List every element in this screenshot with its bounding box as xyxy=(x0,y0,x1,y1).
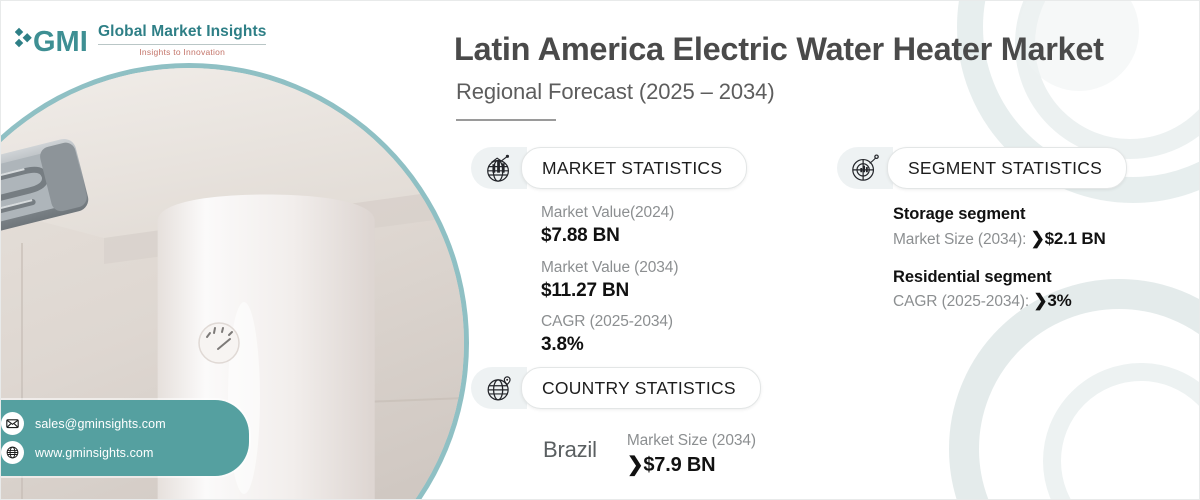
country-figure: Market Size (2034) ❯$7.9 BN xyxy=(627,427,756,478)
stat-value: 3.8% xyxy=(541,333,747,358)
segment-statistics-panel: SEGMENT STATISTICS Storage segment Marke… xyxy=(837,147,1127,328)
country-statistics-pill[interactable]: COUNTRY STATISTICS xyxy=(521,367,761,409)
decorative-arc-bottom-right-2 xyxy=(1043,363,1200,500)
segment-statistics-label: SEGMENT STATISTICS xyxy=(908,158,1102,179)
segment-statistics-badge[interactable]: SEGMENT STATISTICS xyxy=(837,147,1127,189)
segment-line: CAGR (2025-2034): ❯3% xyxy=(893,289,1127,314)
stat-row: Market Value (2034) $11.27 BN xyxy=(541,258,747,304)
country-statistics-panel: COUNTRY STATISTICS Brazil Market Size (2… xyxy=(471,367,761,478)
market-statistics-list: Market Value(2024) $7.88 BN Market Value… xyxy=(471,203,747,358)
infographic-canvas: GMI Global Market Insights Insights to I… xyxy=(0,0,1200,500)
segment-line-value: ❯$2.1 BN xyxy=(1031,229,1106,248)
segment-title: Residential segment xyxy=(893,266,1127,290)
market-statistics-pill[interactable]: MARKET STATISTICS xyxy=(521,147,747,189)
globe-pin-icon xyxy=(471,367,527,409)
pie-chart-target-icon xyxy=(837,147,893,189)
stat-row: Market Value(2024) $7.88 BN xyxy=(541,203,747,249)
page-subtitle: Regional Forecast (2025 – 2034) xyxy=(456,79,1154,105)
contact-website[interactable]: www.gminsights.com xyxy=(35,446,154,460)
stat-label: CAGR (2025-2034) xyxy=(541,312,747,333)
segment-line: Market Size (2034): ❯$2.1 BN xyxy=(893,227,1127,252)
globe-bar-chart-icon xyxy=(471,147,527,189)
brand-tagline: Insights to Innovation xyxy=(98,48,266,57)
contact-email[interactable]: sales@gminsights.com xyxy=(35,417,166,431)
stat-label: Market Value (2034) xyxy=(541,258,747,279)
segment-line-label: Market Size (2034): xyxy=(893,231,1031,248)
brand-logo-text: Global Market Insights Insights to Innov… xyxy=(98,24,266,56)
segment-group: Storage segment Market Size (2034): ❯$2.… xyxy=(893,203,1127,252)
market-statistics-panel: MARKET STATISTICS Market Value(2024) $7.… xyxy=(471,147,747,367)
globe-icon xyxy=(1,441,24,464)
title-underline xyxy=(456,119,556,121)
country-figure-label: Market Size (2034) xyxy=(627,429,756,452)
page-title: Latin America Electric Water Heater Mark… xyxy=(454,31,1154,68)
market-statistics-label: MARKET STATISTICS xyxy=(542,158,722,179)
segment-line-label: CAGR (2025-2034): xyxy=(893,293,1033,310)
contact-bar: sales@gminsights.com www.gminsights.com xyxy=(0,400,249,476)
headline-block: Latin America Electric Water Heater Mark… xyxy=(454,31,1154,121)
brand-logo[interactable]: GMI Global Market Insights Insights to I… xyxy=(15,23,266,57)
segment-group: Residential segment CAGR (2025-2034): ❯3… xyxy=(893,266,1127,315)
svg-text:GMI: GMI xyxy=(33,26,88,57)
brand-divider xyxy=(98,44,266,45)
contact-website-row[interactable]: www.gminsights.com xyxy=(1,438,249,467)
country-statistics-list: Brazil Market Size (2034) ❯$7.9 BN xyxy=(471,427,761,478)
brand-name: Global Market Insights xyxy=(98,24,266,40)
contact-email-row[interactable]: sales@gminsights.com xyxy=(1,409,249,438)
stat-value: $7.88 BN xyxy=(541,224,747,249)
gmi-logo-icon: GMI xyxy=(15,23,89,57)
market-statistics-badge[interactable]: MARKET STATISTICS xyxy=(471,147,747,189)
segment-title: Storage segment xyxy=(893,203,1127,227)
country-statistics-badge[interactable]: COUNTRY STATISTICS xyxy=(471,367,761,409)
segment-statistics-pill[interactable]: SEGMENT STATISTICS xyxy=(887,147,1127,189)
segment-line-value: ❯3% xyxy=(1033,291,1071,310)
stat-row: CAGR (2025-2034) 3.8% xyxy=(541,312,747,358)
stat-value: $11.27 BN xyxy=(541,279,747,304)
envelope-icon xyxy=(1,412,24,435)
country-statistics-label: COUNTRY STATISTICS xyxy=(542,378,736,399)
country-name: Brazil xyxy=(543,427,597,463)
stat-label: Market Value(2024) xyxy=(541,203,747,224)
country-figure-value: ❯$7.9 BN xyxy=(627,452,756,478)
segment-statistics-list: Storage segment Market Size (2034): ❯$2.… xyxy=(837,203,1127,314)
